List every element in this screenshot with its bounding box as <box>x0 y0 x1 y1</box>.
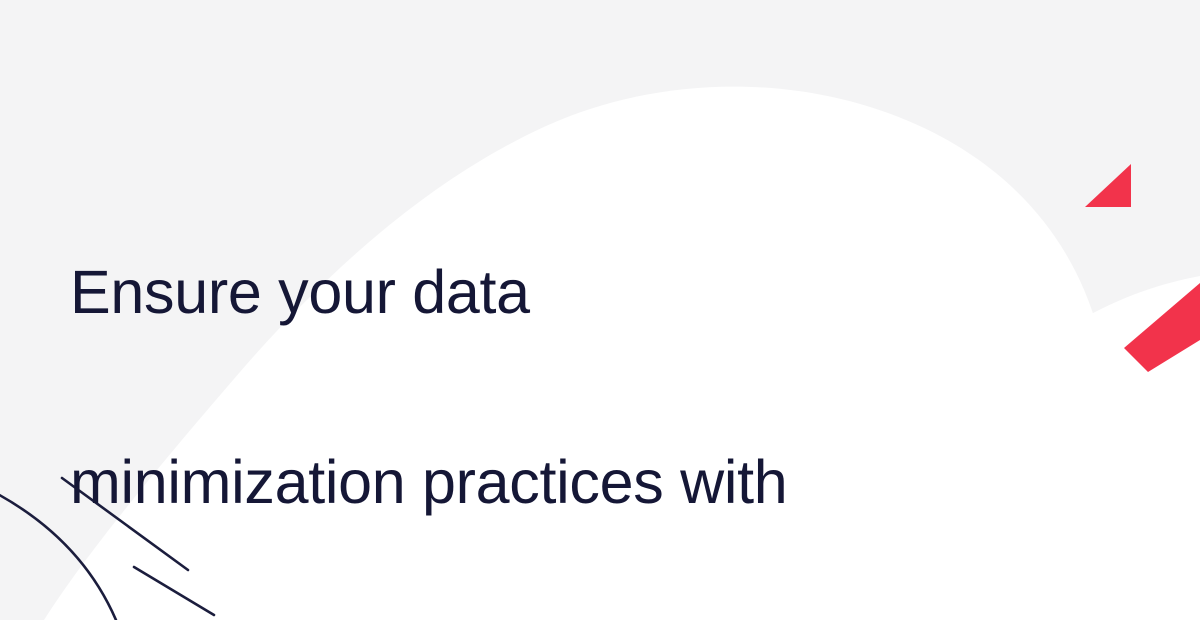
announcement-banner: Ensure your data minimization practices … <box>0 0 1200 620</box>
headline-line-2: minimization practices with <box>70 435 1150 530</box>
headline-line-1: Ensure your data <box>70 245 1150 340</box>
headline: Ensure your data minimization practices … <box>70 150 1150 620</box>
